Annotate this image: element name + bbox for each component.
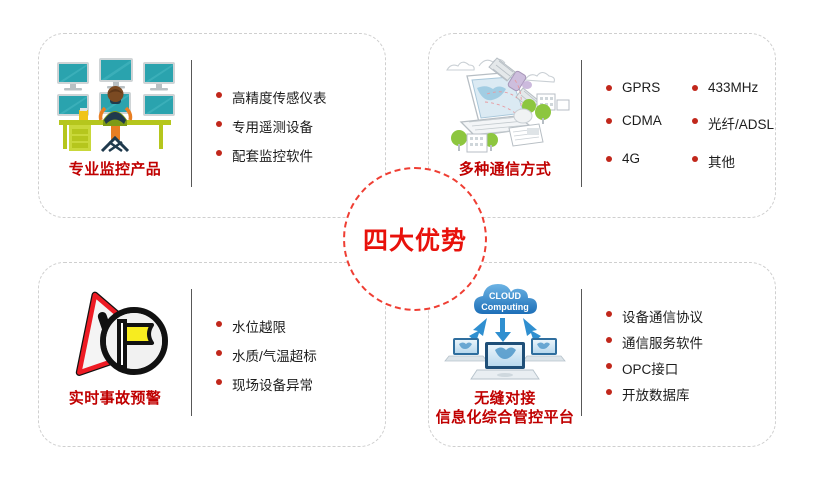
list-item: 其他 [690,151,774,171]
monitoring-workstation-icon [45,48,185,160]
card-illustration-column: 实时事故预警 [39,263,191,446]
card-label: 无缝对接 信息化综合管控平台 [436,389,575,427]
list-item: 通信服务软件 [604,332,765,352]
card-label: 多种通信方式 [459,160,551,179]
quadrant-card-professional-monitoring: 专业监控产品 高精度传感仪表 专用遥测设备 配套监控软件 [38,33,386,218]
list-item: 专用遥测设备 [214,116,375,136]
cloud-label-line1: CLOUD [489,291,521,301]
list-item: 水质/气温超标 [214,345,375,365]
list-item: 配套监控软件 [214,145,375,165]
bullet-list: 设备通信协议 通信服务软件 OPC接口 开放数据库 [604,300,765,410]
bullet-list: 水位越限 水质/气温超标 现场设备异常 [214,307,375,403]
card-label: 专业监控产品 [69,160,161,179]
card-bullets-column: 水位越限 水质/气温超标 现场设备异常 [192,263,385,446]
card-bullets-column: GPRS 433MHz CDMA 光纤/ADSL 4G 其他 [582,34,784,217]
card-bullets-column: 高精度传感仪表 专用遥测设备 配套监控软件 [192,34,385,217]
list-item: OPC接口 [604,358,765,378]
infographic-canvas: 专业监控产品 高精度传感仪表 专用遥测设备 配套监控软件 [0,0,820,486]
list-item: 设备通信协议 [604,306,765,326]
bullet-list: 高精度传感仪表 专用遥测设备 配套监控软件 [214,78,375,174]
list-item: 433MHz [690,80,774,95]
list-item: 开放数据库 [604,384,765,404]
card-label: 实时事故预警 [69,389,161,408]
quadrant-card-communication-methods: 多种通信方式 GPRS 433MHz CDMA 光纤/ADSL 4G 其他 [428,33,776,218]
center-title: 四大优势 [363,221,467,257]
list-item: 光纤/ADSL [690,113,774,133]
card-illustration-column: 专业监控产品 [39,34,191,217]
list-item: CDMA [604,113,682,133]
bullet-grid: GPRS 433MHz CDMA 光纤/ADSL 4G 其他 [604,71,774,180]
center-badge: 四大优势 [343,167,487,311]
list-item: 高精度传感仪表 [214,87,375,107]
card-label-line1: 无缝对接 [436,389,575,408]
quadrant-card-realtime-alarm: 实时事故预警 水位越限 水质/气温超标 现场设备异常 [38,262,386,447]
card-label-line2: 信息化综合管控平台 [436,408,575,427]
cloud-label-line2: Computing [481,302,529,312]
list-item: GPRS [604,80,682,95]
quadrant-card-seamless-integration: CLOUD Computing [428,262,776,447]
list-item: 4G [604,151,682,171]
warning-triangle-flag-icon [45,277,185,389]
list-item: 水位越限 [214,316,375,336]
satellite-laptop-network-icon [435,48,575,160]
card-bullets-column: 设备通信协议 通信服务软件 OPC接口 开放数据库 [582,263,775,446]
list-item: 现场设备异常 [214,374,375,394]
